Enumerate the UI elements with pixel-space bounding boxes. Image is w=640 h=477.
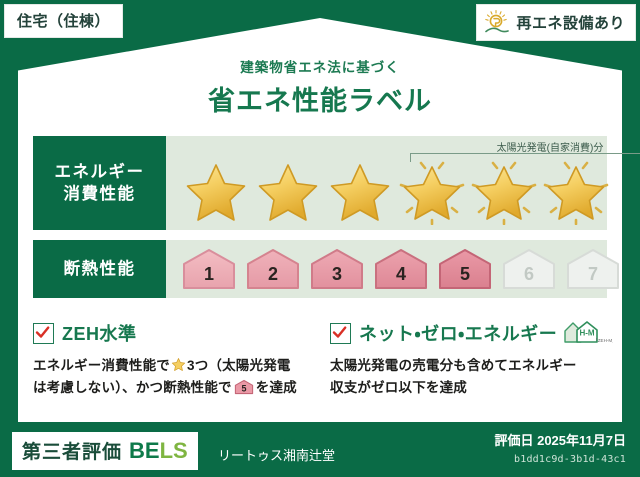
insulation-performance-label-box: 断熱性能 (33, 240, 166, 298)
star-2 (252, 158, 324, 226)
insulation-level-value: 7 (588, 265, 598, 292)
check-icon (332, 325, 347, 340)
zeh-description-part3: を達成 (256, 380, 297, 395)
insulation-level-value: 3 (332, 265, 342, 292)
svg-text:H-M: H-M (580, 329, 595, 338)
energy-performance-panel: エネルギー消費性能 太陽光発電(自家消費)分 (33, 136, 607, 230)
renewable-equipment-text: 再エネ設備あり (516, 12, 625, 33)
evaluation-date: 評価日 2025年11月7日 (494, 430, 626, 449)
svg-text:「ZEH-M」: 「ZEH-M」 (593, 338, 613, 343)
check-icon (35, 325, 50, 340)
insulation-rating-area: 1 2 (166, 240, 607, 298)
star-icon (182, 160, 250, 225)
inline-star-icon (171, 357, 186, 372)
label-title-block: 建築物省エネ法に基づく 省エネ性能ラベル (0, 56, 640, 118)
net-zero-description-line1: 太陽光発電の売電分も含めてエネルギー (330, 358, 577, 373)
solar-bracket (410, 153, 640, 162)
energy-performance-label-text: エネルギー消費性能 (55, 161, 145, 206)
title-subtitle: 建築物省エネ法に基づく (0, 56, 640, 76)
insulation-level-value: 1 (204, 265, 214, 292)
bels-jp-text: 第三者評価 (22, 437, 122, 464)
insulation-level-2: 2 (244, 246, 302, 292)
svg-text:5: 5 (241, 383, 246, 393)
star-4-solar (396, 158, 468, 226)
insulation-level-6: 6 (500, 246, 558, 292)
star-solar-icon (398, 160, 466, 225)
net-zero-heading-text: ネット・ゼロ・エネルギー (359, 320, 557, 346)
insulation-level-scale: 1 2 (180, 240, 607, 298)
zeh-checkbox (33, 323, 54, 344)
energy-performance-label-box: エネルギー消費性能 (33, 136, 166, 230)
zeh-description: エネルギー消費性能で3つ（太陽光発電は考慮しない）、かつ断熱性能で5を達成 (33, 355, 318, 399)
zeh-m-logo-icon: H-M 「ZEH-M」 (561, 320, 613, 346)
building-type-text: 住宅（住棟） (17, 13, 110, 30)
zeh-description-stars: 3つ（太陽光発電 (187, 358, 291, 373)
sun-icon (483, 9, 511, 35)
insulation-performance-label-text: 断熱性能 (64, 258, 136, 280)
insulation-level-3: 3 (308, 246, 366, 292)
star-3 (324, 158, 396, 226)
star-solar-icon (542, 160, 610, 225)
energy-performance-label: 住宅（住棟） 再エネ設備あり 建築物省エネ法に基づく 省エネ性能ラベル エネル (0, 0, 640, 477)
building-type-badge: 住宅（住棟） (4, 4, 123, 38)
star-6-solar (540, 158, 612, 226)
energy-performance-rating-area: 太陽光発電(自家消費)分 (166, 136, 607, 230)
insulation-level-1: 1 (180, 246, 238, 292)
star-1 (180, 158, 252, 226)
net-zero-heading-row: ネット・ゼロ・エネルギー H-M 「ZEH-M」 (330, 320, 615, 346)
zeh-description-part1: エネルギー消費性能で (33, 358, 170, 373)
evaluation-id: b1dd1c9d-3b1d-43c1 (494, 454, 626, 465)
label-footer: 第三者評価 BELS リートゥス湘南辻堂 評価日 2025年11月7日 b1dd… (0, 422, 640, 477)
zeh-heading-row: ZEH水準 (33, 320, 318, 346)
zeh-description-part2: は考慮しない）、かつ断熱性能で (33, 380, 232, 395)
net-zero-checkbox (330, 323, 351, 344)
zeh-heading-text: ZEH水準 (62, 320, 137, 346)
insulation-level-value: 4 (396, 265, 406, 292)
insulation-level-value: 2 (268, 265, 278, 292)
star-rating (166, 158, 607, 226)
evaluation-info: 評価日 2025年11月7日 b1dd1c9d-3b1d-43c1 (494, 430, 626, 465)
net-zero-description: 太陽光発電の売電分も含めてエネルギー収支がゼロ以下を達成 (330, 355, 615, 399)
net-zero-description-line2: 収支がゼロ以下を達成 (330, 380, 467, 395)
zeh-standard-block: ZEH水準 エネルギー消費性能で3つ（太陽光発電は考慮しない）、かつ断熱性能で5… (33, 320, 318, 399)
insulation-level-4: 4 (372, 246, 430, 292)
insulation-level-value: 5 (460, 265, 470, 292)
bels-certification-mark: 第三者評価 BELS (12, 432, 198, 470)
bels-en-text: BELS (129, 438, 188, 464)
star-icon (254, 160, 322, 225)
insulation-performance-panel: 断熱性能 1 (33, 240, 607, 298)
title-main: 省エネ性能ラベル (0, 79, 640, 118)
renewable-equipment-badge: 再エネ設備あり (476, 4, 636, 41)
net-zero-energy-block: ネット・ゼロ・エネルギー H-M 「ZEH-M」 太陽光発電の売電分も含めてエネ… (330, 320, 615, 399)
insulation-level-5: 5 (436, 246, 494, 292)
star-5-solar (468, 158, 540, 226)
insulation-level-value: 6 (524, 265, 534, 292)
insulation-level-7: 7 (564, 246, 622, 292)
building-name: リートゥス湘南辻堂 (218, 445, 335, 464)
star-solar-icon (470, 160, 538, 225)
star-icon (326, 160, 394, 225)
inline-house-badge-icon: 5 (234, 379, 254, 395)
